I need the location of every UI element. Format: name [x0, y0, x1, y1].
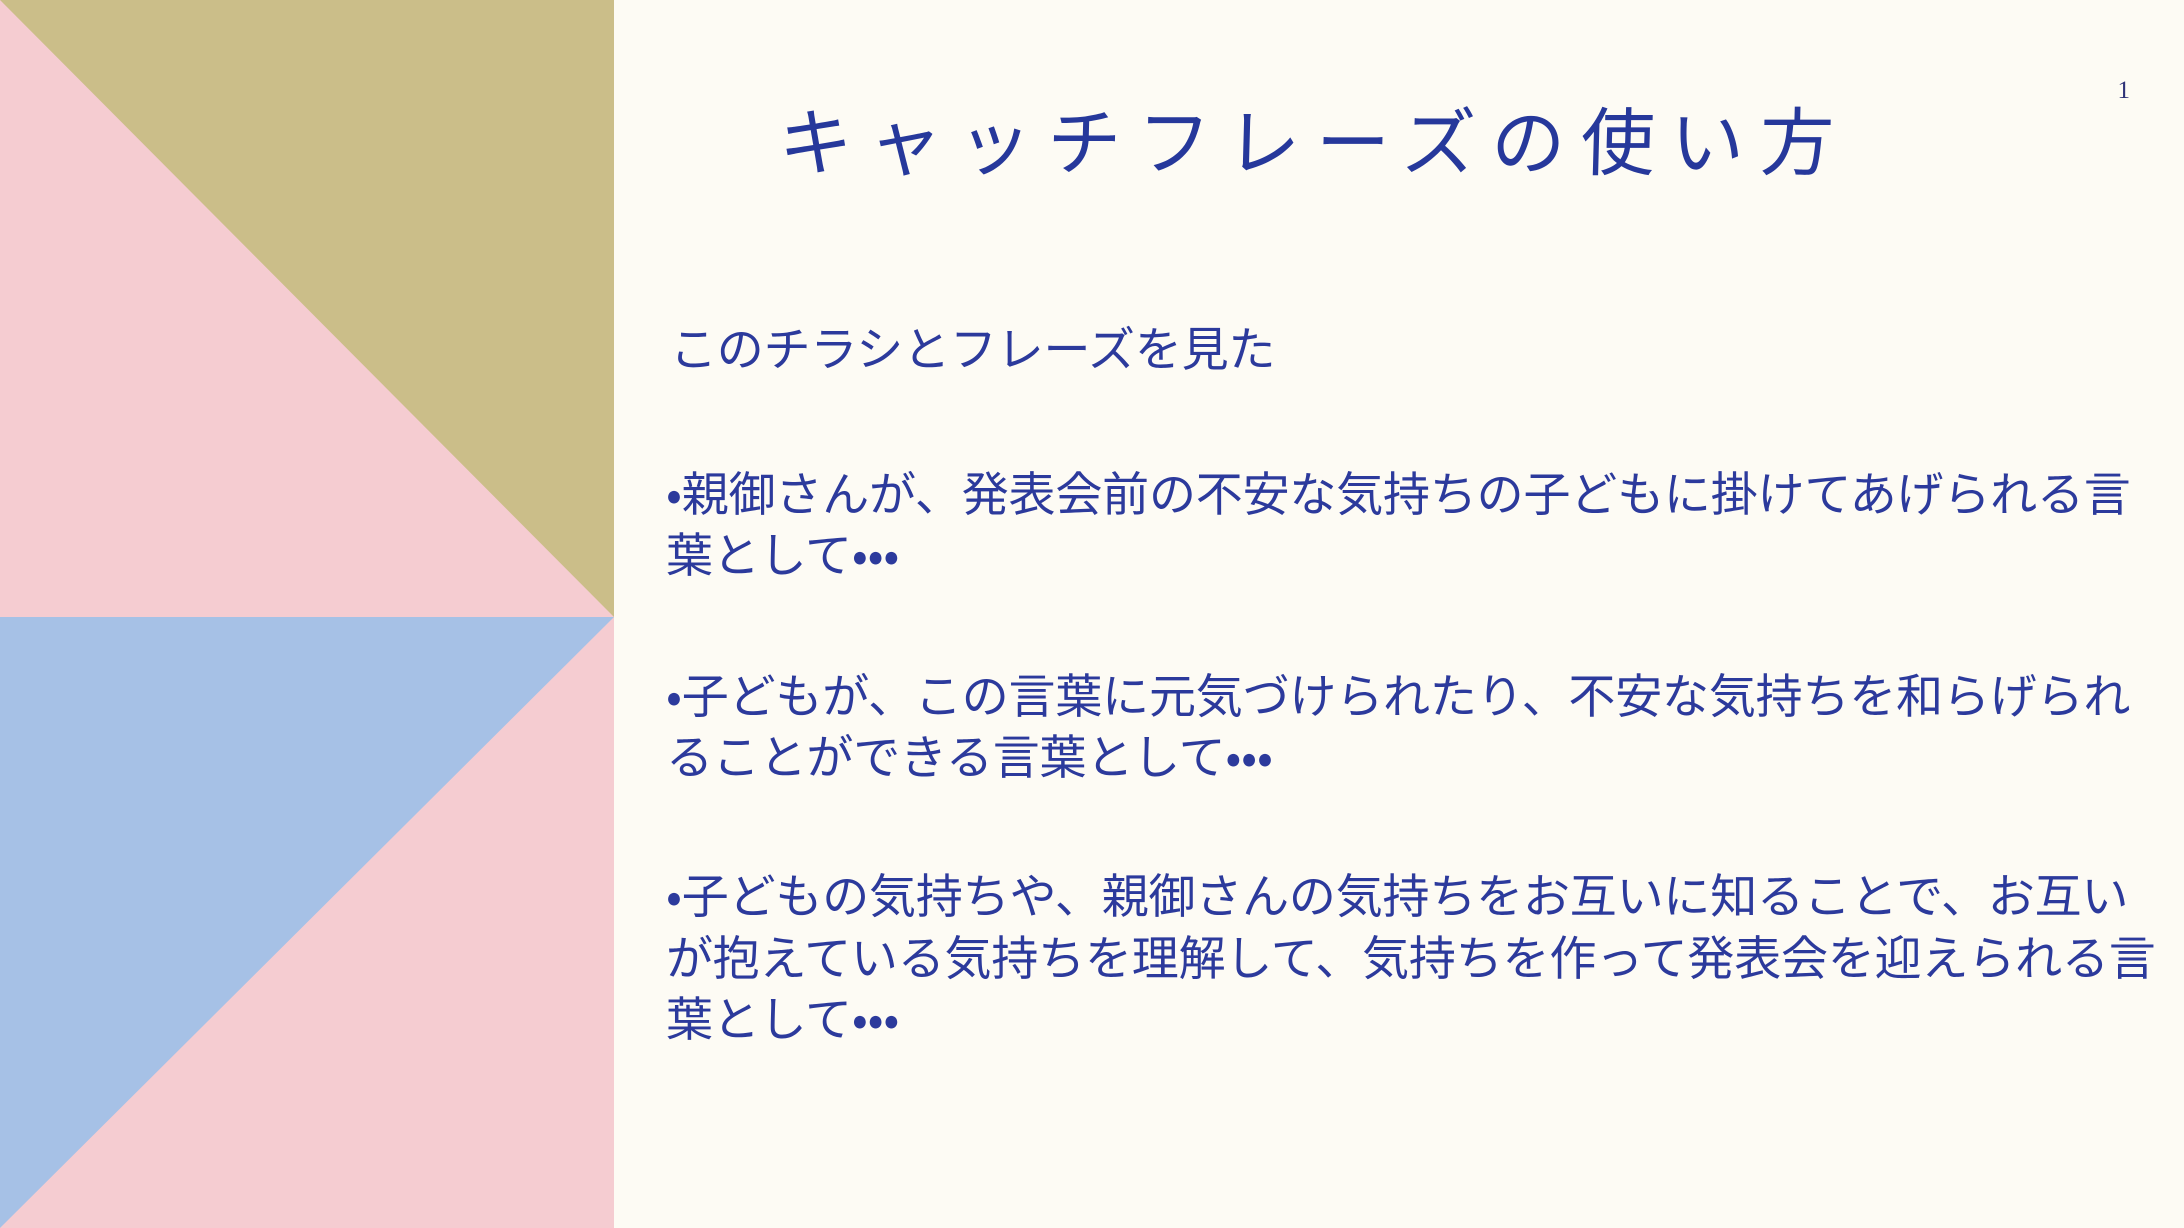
bullet-paragraph-3: ・子どもの気持ちや、親御さんの気持ちをお互いに知ることで、お互いが抱えている気持…: [666, 867, 2166, 1050]
page-number: 1: [2118, 78, 2131, 103]
page-title: キャッチフレーズの使い方: [613, 106, 2015, 184]
bullet-paragraph-1: ・親御さんが、発表会前の不安な気持ちの子どもに掛けてあげられる言葉として・・・: [666, 465, 2166, 587]
content-area: 1 キャッチフレーズの使い方 このチラシとフレーズを見た ・親御さんが、発表会前…: [614, 0, 2184, 1228]
decorative-panel: [0, 0, 614, 1228]
lead-paragraph: このチラシとフレーズを見た: [666, 320, 2166, 381]
paragraph-spacer: [666, 381, 2166, 465]
paragraph-spacer: [666, 587, 2166, 667]
paragraph-spacer: [666, 789, 2166, 867]
slide-canvas: 1 キャッチフレーズの使い方 このチラシとフレーズを見た ・親御さんが、発表会前…: [0, 0, 2184, 1228]
bullet-paragraph-2: ・子どもが、この言葉に元気づけられたり、不安な気持ちを和らげられることができる言…: [666, 667, 2166, 789]
decorative-triangles: [0, 0, 614, 1228]
body-text-block: このチラシとフレーズを見た ・親御さんが、発表会前の不安な気持ちの子どもに掛けて…: [666, 320, 2166, 1051]
